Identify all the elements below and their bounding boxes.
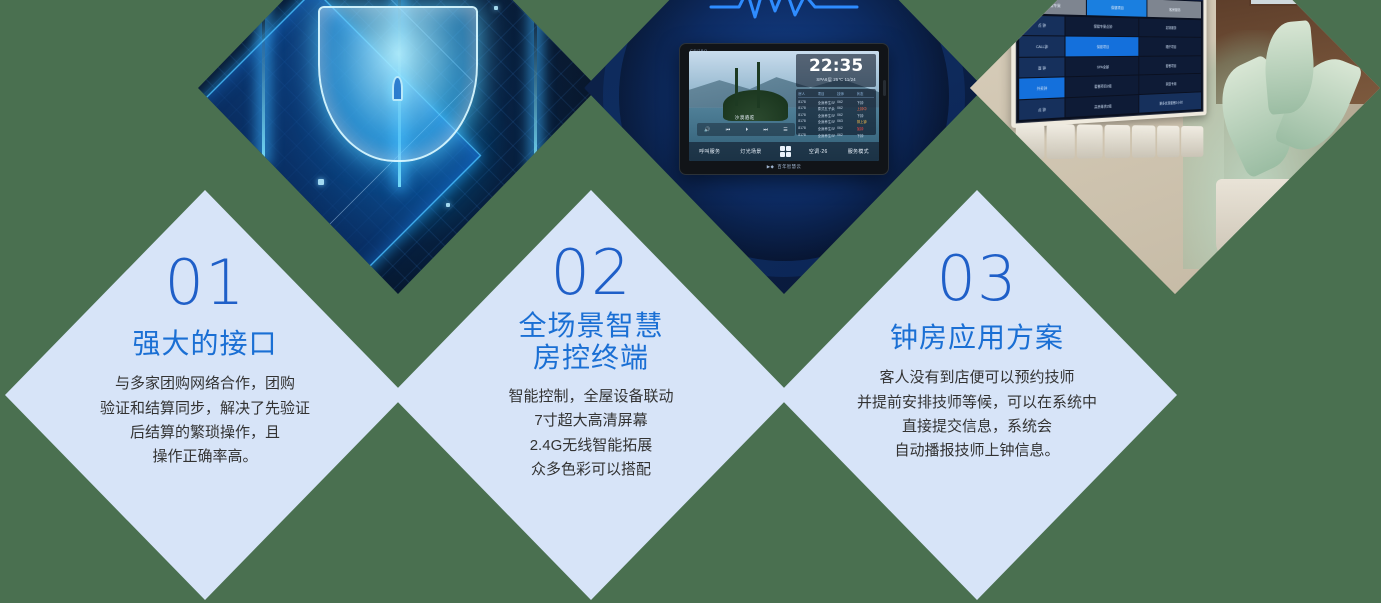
volume-icon[interactable]: 🔊: [704, 127, 710, 133]
cell-tech: 062: [837, 100, 854, 105]
feature-title-1: 强大的接口: [132, 328, 277, 360]
wall-panel-hardware-buttons[interactable]: [1016, 124, 1203, 160]
table-header-row: 房人 项目 技师 状态: [798, 91, 874, 98]
cell-status: 下钟: [857, 100, 874, 105]
feature-card-3[interactable]: 03 钟房应用方案 客人没有到店便可以预约技师 并提前安排技师等候，可以在系统中…: [777, 190, 1177, 600]
table-row: 8178 全身养生SPA 062 下钟: [798, 100, 874, 105]
dock-item-call-service[interactable]: 呼叫服务: [697, 148, 722, 155]
dock-bar[interactable]: 呼叫服务 灯光场景 空调·26 服务模式: [689, 142, 879, 161]
cell-status: 下钟: [857, 113, 874, 118]
feature-diamonds-banner: CSI2BO 22:35 SPA6层 25℃ 11/24: [0, 0, 1381, 603]
media-track-label: 沙漠骆驼: [735, 115, 755, 121]
wall-panel-mid-column[interactable]: 保健专案点钟 保健项目 SPA全部 套餐项目2组 高贵尊贵2组: [1065, 16, 1138, 117]
hardware-button[interactable]: [1182, 126, 1204, 157]
feature-body-1: 与多家团购网络合作，团购 验证和结算同步，解决了先验证 后结算的繁琐操作，且 操…: [100, 372, 310, 469]
media-controls[interactable]: 🔊 ⏮ ⏵ ⏭ ☰: [697, 123, 796, 136]
mid-item[interactable]: 高贵尊贵2组: [1065, 94, 1138, 117]
right-item[interactable]: 家庭专用: [1140, 74, 1202, 94]
cell-room: 8178: [798, 113, 815, 118]
tablet-bottom-brand: ▶◆ 百年智慧云: [680, 162, 888, 172]
cell-tech: 062: [837, 113, 854, 118]
table-row: 8178 全身养生SPA 062 加钟: [798, 126, 874, 131]
table-row: 8178 泰式五子余乐推护 062 上钟中: [798, 106, 874, 111]
right-item[interactable]: 定制服务: [1140, 18, 1202, 37]
table-row: 8178 全身养生SPA 062 下钟: [798, 113, 874, 118]
feature-title-2: 全场景智慧 房控终端: [518, 310, 663, 375]
wallpaper-island: [723, 90, 788, 121]
play-pause-icon[interactable]: ⏵: [746, 127, 749, 133]
mid-item-selected[interactable]: 保健项目: [1065, 36, 1138, 55]
cell-item: 全身养生SPA: [818, 133, 835, 138]
table-row: 8178 全身养生SPA 062 下钟: [798, 133, 874, 138]
cell-item: 全身养生SPA: [818, 100, 835, 105]
feature-body-3: 客人没有到店便可以预约技师 并提前安排技师等候，可以在系统中 直接提交信息，系统…: [857, 366, 1097, 463]
tab-health-item[interactable]: 保健项目: [1087, 0, 1147, 16]
cell-status: 排上钟: [857, 119, 874, 124]
cell-status: 加钟: [857, 126, 874, 131]
cell-item: 全身养生SPA: [818, 113, 835, 118]
wall-control-panel[interactable]: ☖ 客房控制 保健专案 保健项目 客房服务 点 钟 CALL钟 面 钟 外卖钟: [1011, 0, 1206, 128]
cell-room: 8178: [798, 119, 815, 124]
right-item[interactable]: 套餐项目: [1140, 56, 1202, 75]
feature-number-3: 03: [937, 248, 1018, 310]
dock-item-air-conditioner[interactable]: 空调·26: [807, 148, 830, 155]
tab-room-service[interactable]: 客房服务: [1147, 0, 1201, 18]
clock-widget: 22:35 SPA6层 25℃ 11/24: [796, 54, 876, 87]
cell-room: 8178: [798, 100, 815, 105]
cell-item: 泰式五子余乐推护: [818, 106, 835, 111]
mid-item[interactable]: 保健专案点钟: [1065, 16, 1138, 36]
wallpaper-tree: [735, 68, 738, 105]
hardware-button[interactable]: [1105, 125, 1130, 158]
table-header-cell: 房人: [798, 91, 815, 96]
wall-panel-right-column[interactable]: 定制服务 理疗项目 套餐项目 家庭专用 更多优惠套餐2小时: [1140, 18, 1202, 113]
pulse-waveform-icon: [709, 0, 859, 29]
feature-number-1: 01: [165, 252, 246, 314]
wall-panel-body[interactable]: 点 钟 CALL钟 面 钟 外卖钟 点 钟 保健专案点钟 保健项目 SPA全部 …: [1017, 14, 1203, 123]
clock-time: 22:35: [809, 58, 863, 75]
spark-dot: [446, 203, 450, 207]
table-header-cell: 状态: [857, 91, 874, 96]
cell-room: 8178: [798, 126, 815, 131]
feature-body-2: 智能控制，全屋设备联动 7寸超大高清屏幕 2.4G无线智能拓展 众多色彩可以搭配: [508, 385, 673, 482]
hardware-button[interactable]: [1047, 124, 1075, 159]
cell-tech: 062: [837, 133, 854, 138]
cell-room: 8178: [798, 106, 815, 111]
brand-logo-icon: ▶◆: [767, 164, 775, 170]
dock-item-service-mode[interactable]: 服务模式: [846, 148, 871, 155]
playlist-icon[interactable]: ☰: [783, 127, 787, 133]
cell-status: 下钟: [857, 133, 874, 138]
left-item[interactable]: 点 钟: [1019, 15, 1064, 36]
cell-tech: 062: [837, 106, 854, 111]
service-table[interactable]: 房人 项目 技师 状态 8178 全身养生SPA 062 下钟 8178: [796, 89, 876, 135]
clock-meta: SPA6层 25℃ 11/24: [816, 77, 855, 83]
tab-health-plan[interactable]: 保健专案: [1019, 0, 1086, 14]
tablet-side-button[interactable]: [883, 80, 886, 96]
tablet-screen[interactable]: 22:35 SPA6层 25℃ 11/24 房人 项目 技师 状态 8178: [689, 51, 879, 161]
cell-item: 全身养生SPA: [818, 119, 835, 124]
left-item[interactable]: 面 钟: [1019, 57, 1064, 78]
wall-panel-left-column[interactable]: 点 钟 CALL钟 面 钟 外卖钟 点 钟: [1019, 15, 1064, 120]
wallpaper-tree: [757, 62, 760, 108]
dock-item-light-scene[interactable]: 灯光场景: [738, 148, 763, 155]
window-pane: [1249, 0, 1356, 6]
cell-room: 8178: [798, 133, 815, 138]
right-item[interactable]: 理疗项目: [1140, 37, 1202, 55]
tablet-device: CSI2BO 22:35 SPA6层 25℃ 11/24: [679, 43, 889, 175]
apps-grid-icon[interactable]: [780, 146, 791, 157]
feature-title-3: 钟房应用方案: [890, 322, 1064, 354]
light-beam-left: [262, 0, 265, 162]
previous-track-icon[interactable]: ⏮: [726, 127, 731, 133]
left-item[interactable]: CALL钟: [1019, 36, 1064, 56]
light-beam-right: [534, 6, 537, 171]
cell-tech: 062: [837, 126, 854, 131]
left-item-selected[interactable]: 外卖钟: [1019, 77, 1064, 98]
next-track-icon[interactable]: ⏭: [763, 127, 768, 133]
wall-panel-screen[interactable]: ☖ 客房控制 保健专案 保健项目 客房服务 点 钟 CALL钟 面 钟 外卖钟: [1016, 0, 1204, 123]
hardware-button[interactable]: [1132, 125, 1156, 158]
cell-status: 上钟中: [857, 106, 874, 111]
feature-card-2[interactable]: 02 全场景智慧 房控终端 智能控制，全屋设备联动 7寸超大高清屏幕 2.4G无…: [391, 190, 791, 600]
feature-card-1[interactable]: 01 强大的接口 与多家团购网络合作，团购 验证和结算同步，解决了先验证 后结算…: [5, 190, 405, 600]
left-item[interactable]: 点 钟: [1019, 98, 1064, 120]
spark-dot: [494, 6, 498, 10]
hardware-button[interactable]: [1157, 126, 1180, 158]
right-item-highlight[interactable]: 更多优惠套餐2小时: [1140, 92, 1202, 113]
mid-item[interactable]: 套餐项目2组: [1065, 75, 1138, 96]
table-row: 8178 全身养生SPA 063 排上钟: [798, 119, 874, 124]
spark-dot: [318, 179, 324, 185]
table-header-cell: 项目: [818, 91, 835, 96]
table-header-cell: 技师: [837, 91, 854, 96]
cell-item: 全身养生SPA: [818, 126, 835, 131]
plant-pot: [1216, 179, 1314, 261]
feature-number-2: 02: [551, 242, 632, 304]
hardware-button[interactable]: [1077, 124, 1103, 158]
hardware-button[interactable]: [1016, 124, 1045, 160]
cell-tech: 063: [837, 119, 854, 124]
lock-keyhole-icon: [392, 76, 403, 100]
mid-item[interactable]: SPA全部: [1065, 56, 1138, 76]
brand-name: 百年智慧云: [777, 164, 801, 170]
